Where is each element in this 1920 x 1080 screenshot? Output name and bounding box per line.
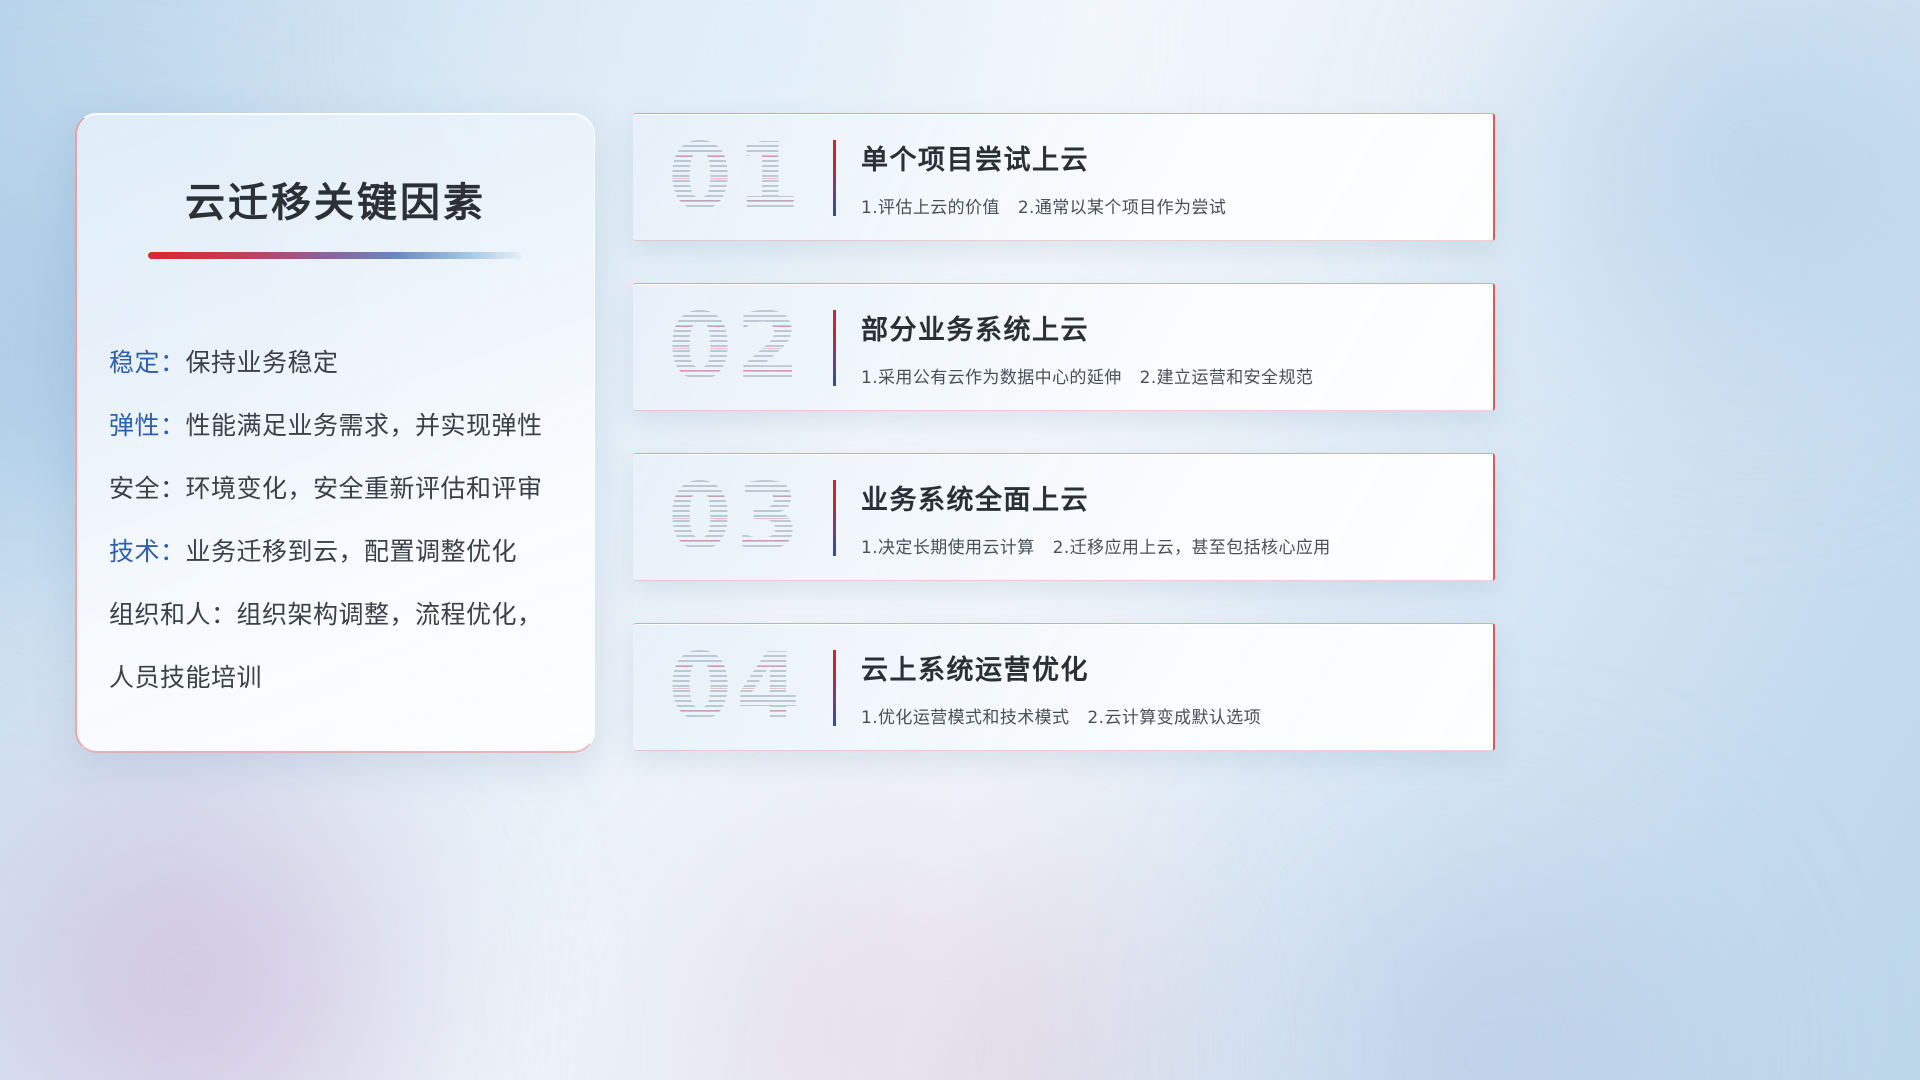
- card-title: 部分业务系统上云: [861, 308, 1469, 347]
- card-subtitle: 1.评估上云的价值2.通常以某个项目作为尝试: [861, 193, 1469, 218]
- key-factor-item: 稳定：保持业务稳定: [109, 331, 594, 394]
- card-subtitle-point: 1.评估上云的价值: [861, 198, 1000, 218]
- key-factor-label: 弹性：: [109, 411, 186, 440]
- card-title: 单个项目尝试上云: [861, 138, 1469, 177]
- key-factor-label: 组织和人：: [109, 600, 237, 629]
- card-subtitle-point: 1.优化运营模式和技术模式: [861, 708, 1069, 728]
- card-body: 单个项目尝试上云1.评估上云的价值2.通常以某个项目作为尝试: [861, 138, 1469, 218]
- card-subtitle-point: 2.建立运营和安全规范: [1140, 368, 1314, 388]
- card-subtitle: 1.优化运营模式和技术模式2.云计算变成默认选项: [861, 703, 1469, 728]
- card-subtitle: 1.采用公有云作为数据中心的延伸2.建立运营和安全规范: [861, 363, 1469, 388]
- card-accent-bar: [833, 140, 836, 216]
- card-accent-bar: [833, 310, 836, 386]
- key-factor-label: 安全：: [109, 474, 186, 503]
- card-title: 云上系统运营优化: [861, 648, 1469, 687]
- key-factor-label: 稳定：: [109, 348, 186, 377]
- key-factor-text: 性能满足业务需求，并实现弹性: [186, 411, 543, 440]
- key-factor-item: 人员技能培训: [109, 646, 594, 709]
- key-factor-item: 组织和人：组织架构调整，流程优化，: [109, 583, 594, 646]
- card-body: 业务系统全面上云1.决定长期使用云计算2.迁移应用上云，甚至包括核心应用: [861, 478, 1469, 558]
- key-factor-text: 组织架构调整，流程优化，: [237, 600, 543, 629]
- card-subtitle-point: 2.云计算变成默认选项: [1087, 708, 1261, 728]
- key-factor-label: 技术：: [109, 537, 186, 566]
- key-factor-item: 安全：环境变化，安全重新评估和评审: [109, 457, 594, 520]
- title-underline-gradient: [148, 252, 523, 259]
- stage-card[interactable]: 0303业务系统全面上云1.决定长期使用云计算2.迁移应用上云，甚至包括核心应用: [633, 453, 1495, 581]
- key-factor-text: 业务迁移到云，配置调整优化: [186, 537, 518, 566]
- card-body: 部分业务系统上云1.采用公有云作为数据中心的延伸2.建立运营和安全规范: [861, 308, 1469, 388]
- card-subtitle: 1.决定长期使用云计算2.迁移应用上云，甚至包括核心应用: [861, 533, 1469, 558]
- key-factor-item: 弹性：性能满足业务需求，并实现弹性: [109, 394, 594, 457]
- stage-number-watermark-tint: 03: [661, 465, 811, 569]
- key-factor-item: 技术：业务迁移到云，配置调整优化: [109, 520, 594, 583]
- stages-card-list: 0101单个项目尝试上云1.评估上云的价值2.通常以某个项目作为尝试0202部分…: [633, 113, 1495, 751]
- panel-title: 云迁移关键因素: [77, 170, 594, 228]
- key-factors-list: 稳定：保持业务稳定弹性：性能满足业务需求，并实现弹性安全：环境变化，安全重新评估…: [109, 331, 594, 709]
- card-title: 业务系统全面上云: [861, 478, 1469, 517]
- card-subtitle-point: 1.决定长期使用云计算: [861, 538, 1035, 558]
- stage-number-watermark-tint: 04: [661, 635, 811, 739]
- key-factor-text: 保持业务稳定: [186, 348, 339, 377]
- key-factor-text: 人员技能培训: [109, 663, 262, 692]
- card-body: 云上系统运营优化1.优化运营模式和技术模式2.云计算变成默认选项: [861, 648, 1469, 728]
- card-subtitle-point: 2.迁移应用上云，甚至包括核心应用: [1053, 538, 1331, 558]
- stage-card[interactable]: 0202部分业务系统上云1.采用公有云作为数据中心的延伸2.建立运营和安全规范: [633, 283, 1495, 411]
- card-subtitle-point: 1.采用公有云作为数据中心的延伸: [861, 368, 1122, 388]
- stage-card[interactable]: 0404云上系统运营优化1.优化运营模式和技术模式2.云计算变成默认选项: [633, 623, 1495, 751]
- card-accent-bar: [833, 650, 836, 726]
- card-accent-bar: [833, 480, 836, 556]
- stage-number-watermark-tint: 01: [661, 125, 811, 229]
- card-subtitle-point: 2.通常以某个项目作为尝试: [1018, 198, 1226, 218]
- key-factors-panel: 云迁移关键因素 稳定：保持业务稳定弹性：性能满足业务需求，并实现弹性安全：环境变…: [75, 113, 595, 753]
- stage-number-watermark-tint: 02: [661, 295, 811, 399]
- stage-card[interactable]: 0101单个项目尝试上云1.评估上云的价值2.通常以某个项目作为尝试: [633, 113, 1495, 241]
- key-factor-text: 环境变化，安全重新评估和评审: [186, 474, 543, 503]
